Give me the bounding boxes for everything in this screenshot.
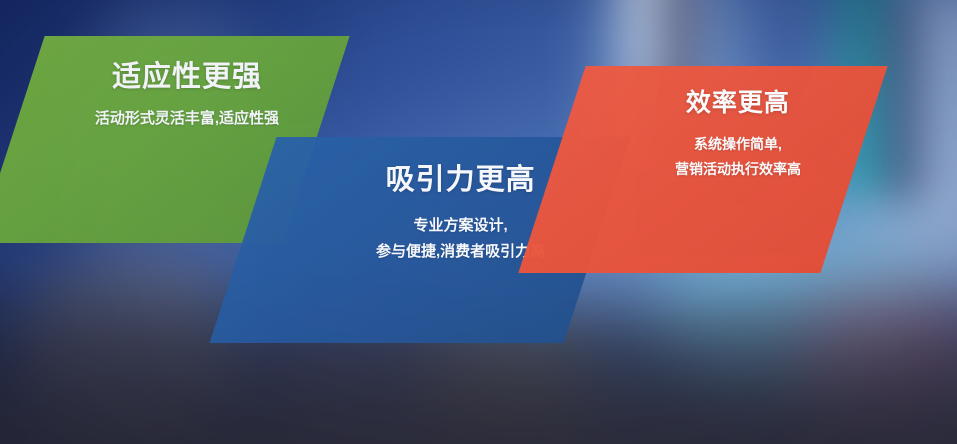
panel-title-adaptability: 适应性更强 <box>34 36 339 92</box>
panel-title-efficiency: 效率更高 <box>587 66 889 116</box>
panel-subtitle-adaptability-line-1: 活动形式灵活丰富,适应性强 <box>34 92 339 129</box>
panel-subtitle-efficiency-line-1: 系统操作简单, <box>587 116 889 157</box>
banner-stage: 适应性更强 活动形式灵活丰富,适应性强 吸引力更高 专业方案设计, 参与便捷,消… <box>0 0 957 444</box>
panel-subtitle-efficiency-line-2: 营销活动执行效率高 <box>587 157 889 182</box>
